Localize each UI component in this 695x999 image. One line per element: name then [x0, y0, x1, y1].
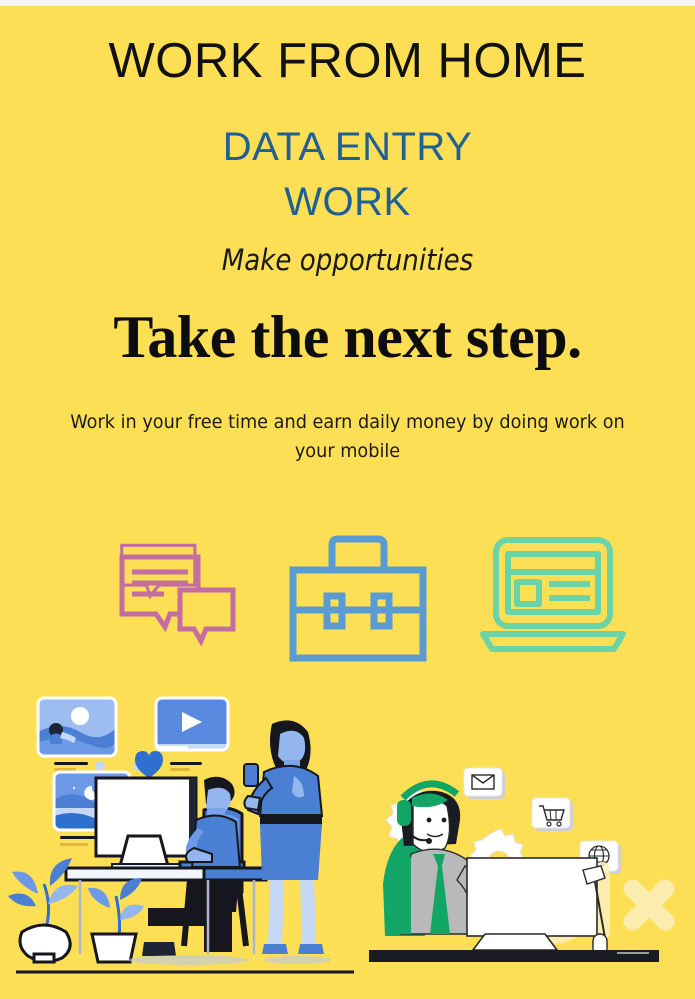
body-copy: Work in your free time and earn daily mo… — [52, 408, 643, 467]
subtitle-block: DATA ENTRY WORK — [0, 120, 695, 230]
photo-sun-card — [38, 698, 116, 771]
envelope-icon — [464, 768, 505, 799]
heart-icon — [135, 751, 163, 778]
subtitle-line-1: DATA ENTRY — [223, 125, 473, 169]
briefcase-icon — [283, 528, 433, 673]
laptop-icon — [478, 528, 628, 668]
tagline: Make opportunities — [35, 243, 661, 277]
support-agent-illustration — [355, 758, 695, 990]
page-title: WORK FROM HOME — [0, 36, 695, 88]
potted-plant-right — [88, 878, 144, 962]
subtitle-line-2: WORK — [0, 175, 695, 230]
standing-woman — [244, 720, 324, 954]
chat-bubbles-icon — [118, 528, 238, 653]
shopping-cart-icon — [532, 798, 573, 831]
floor-line — [16, 955, 354, 972]
hero-headline: Take the next step. — [0, 306, 695, 369]
agent-monitor — [467, 858, 597, 950]
poster-canvas: WORK FROM HOME DATA ENTRY WORK Make oppo… — [0, 0, 695, 999]
feature-icon-row — [0, 528, 695, 678]
desk-workspace-illustration — [8, 688, 358, 988]
top-edge-strip — [0, 0, 695, 6]
desktop-monitor — [96, 778, 196, 870]
